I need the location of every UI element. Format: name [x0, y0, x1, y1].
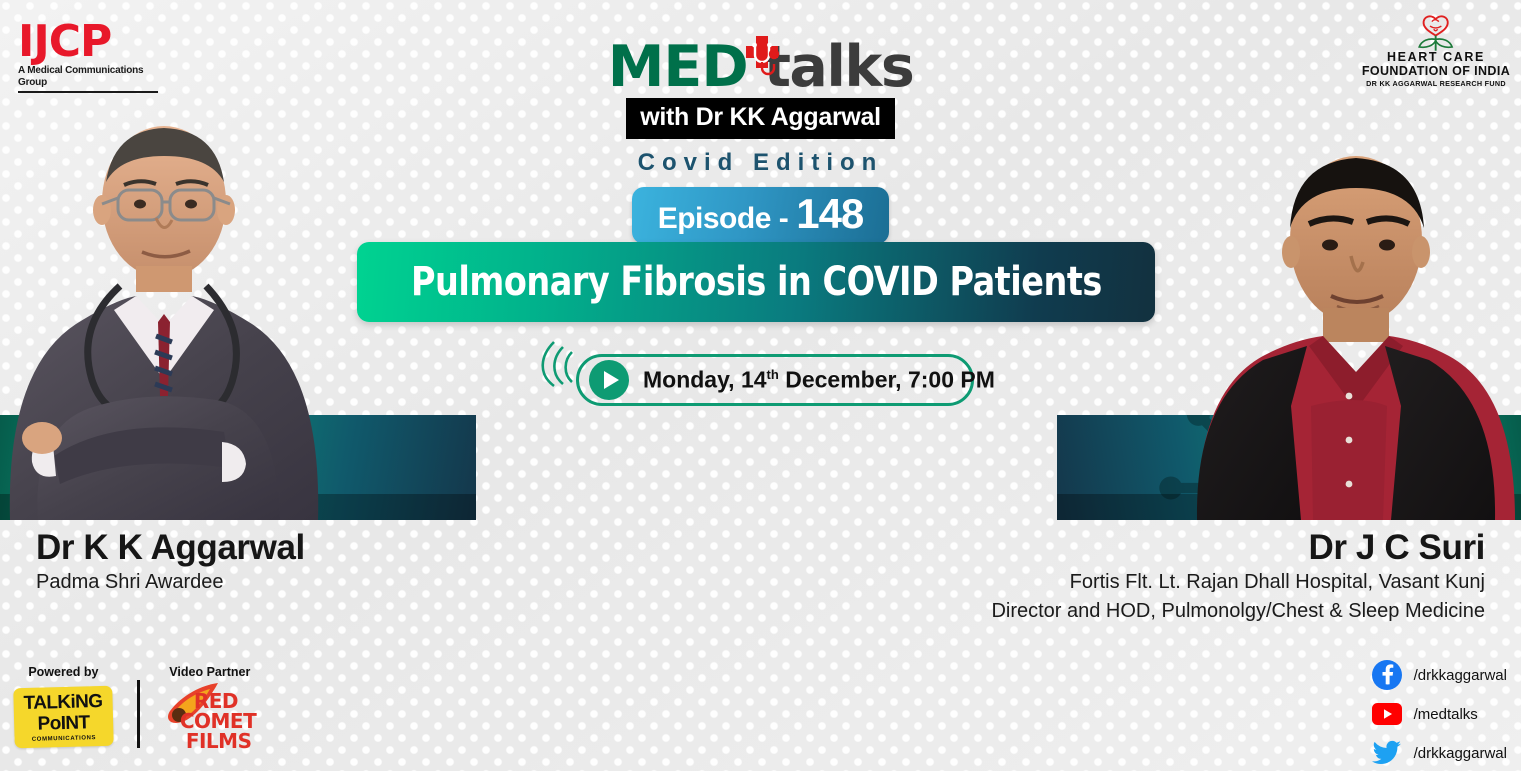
hcfi-line-2: FOUNDATION OF INDIA: [1361, 64, 1511, 79]
schedule-text: Monday, 14th December, 7:00 PM: [643, 368, 995, 392]
ijcp-logo: IJCP A Medical Communications Group: [18, 22, 158, 93]
left-speaker-name: Dr K K Aggarwal: [36, 528, 305, 568]
right-speaker-name: Dr J C Suri: [991, 528, 1485, 568]
red-comet-films-logo: RED COMET FILMS: [164, 687, 256, 753]
powered-by-sponsor: Powered by TALKiNG PoINT COMMUNICATIONS: [14, 666, 113, 747]
episode-badge: Episode - 148: [632, 187, 890, 244]
left-speaker-credential-1: Padma Shri Awardee: [36, 568, 305, 597]
right-speaker-info: Dr J C Suri Fortis Flt. Lt. Rajan Dhall …: [991, 528, 1485, 626]
episode-title-banner: Pulmonary Fibrosis in COVID Patients: [357, 242, 1155, 322]
schedule-day: Monday, 14: [643, 367, 767, 393]
talking-point-line-2: PoINT: [24, 712, 103, 733]
play-icon[interactable]: [589, 360, 629, 400]
episode-number: 148: [796, 193, 863, 235]
med-text: MED: [608, 39, 748, 96]
social-row-facebook[interactable]: /drkkaggarwal: [1372, 660, 1507, 690]
social-links: /drkkaggarwal /medtalks /drkkaggarwal: [1372, 660, 1507, 768]
social-row-twitter[interactable]: /drkkaggarwal: [1372, 738, 1507, 768]
facebook-handle: /drkkaggarwal: [1414, 668, 1507, 683]
hcfi-line-1: HEART CARE: [1361, 50, 1511, 64]
left-speaker-info: Dr K K Aggarwal Padma Shri Awardee: [36, 528, 305, 597]
left-speaker-portrait: [0, 90, 324, 520]
schedule-ordinal: th: [767, 367, 779, 382]
sponsor-strip: Powered by TALKiNG PoINT COMMUNICATIONS …: [14, 666, 256, 753]
talking-point-logo: TALKiNG PoINT COMMUNICATIONS: [13, 685, 113, 748]
powered-by-caption: Powered by: [28, 666, 98, 679]
medtalks-wordmark: MED talks: [501, 38, 1021, 96]
twitter-handle: /drkkaggarwal: [1414, 746, 1507, 761]
right-speaker-portrait: [1171, 110, 1521, 520]
sponsor-divider: [137, 680, 140, 748]
schedule-rest: December, 7:00 PM: [779, 367, 995, 393]
right-speaker-credential-2: Director and HOD, Pulmonolgy/Chest & Sle…: [991, 597, 1485, 626]
video-partner-sponsor: Video Partner RED COMET FILMS: [164, 666, 256, 753]
schedule-pill: Monday, 14th December, 7:00 PM: [576, 354, 974, 406]
youtube-handle: /medtalks: [1414, 707, 1478, 722]
heart-flower-icon: [1404, 14, 1467, 52]
with-host-label: with Dr KK Aggarwal: [626, 98, 895, 139]
rcf-word-2: COMET: [180, 711, 256, 731]
stethoscope-cross-icon: [739, 34, 785, 80]
talks-text: talks: [764, 39, 914, 96]
social-row-youtube[interactable]: /medtalks: [1372, 699, 1507, 729]
medtalks-brand-header: MED talks with Dr KK Aggarwal Covid Edit…: [501, 38, 1021, 244]
schedule-block: Monday, 14th December, 7:00 PM: [534, 350, 984, 410]
episode-label: Episode -: [658, 204, 789, 234]
talking-point-line-3: COMMUNICATIONS: [25, 734, 104, 742]
rcf-word-3: FILMS: [186, 731, 252, 751]
ijcp-wordmark: IJCP: [18, 22, 158, 62]
twitter-icon[interactable]: [1372, 738, 1402, 768]
rcf-word-1: RED: [194, 691, 238, 711]
episode-title: Pulmonary Fibrosis in COVID Patients: [411, 262, 1102, 302]
hcfi-line-3: DR KK AGGARWAL RESEARCH FUND: [1361, 79, 1511, 90]
youtube-icon[interactable]: [1372, 699, 1402, 729]
edition-label: Covid Edition: [501, 151, 1021, 175]
right-speaker-credential-1: Fortis Flt. Lt. Rajan Dhall Hospital, Va…: [991, 568, 1485, 597]
facebook-icon[interactable]: [1372, 660, 1402, 690]
poster-canvas: IJCP A Medical Communications Group HEAR…: [0, 0, 1521, 771]
heart-care-foundation-logo: HEART CARE FOUNDATION OF INDIA DR KK AGG…: [1361, 14, 1511, 90]
video-partner-caption: Video Partner: [169, 666, 250, 679]
talking-point-line-1: TALKiNG: [23, 691, 102, 712]
